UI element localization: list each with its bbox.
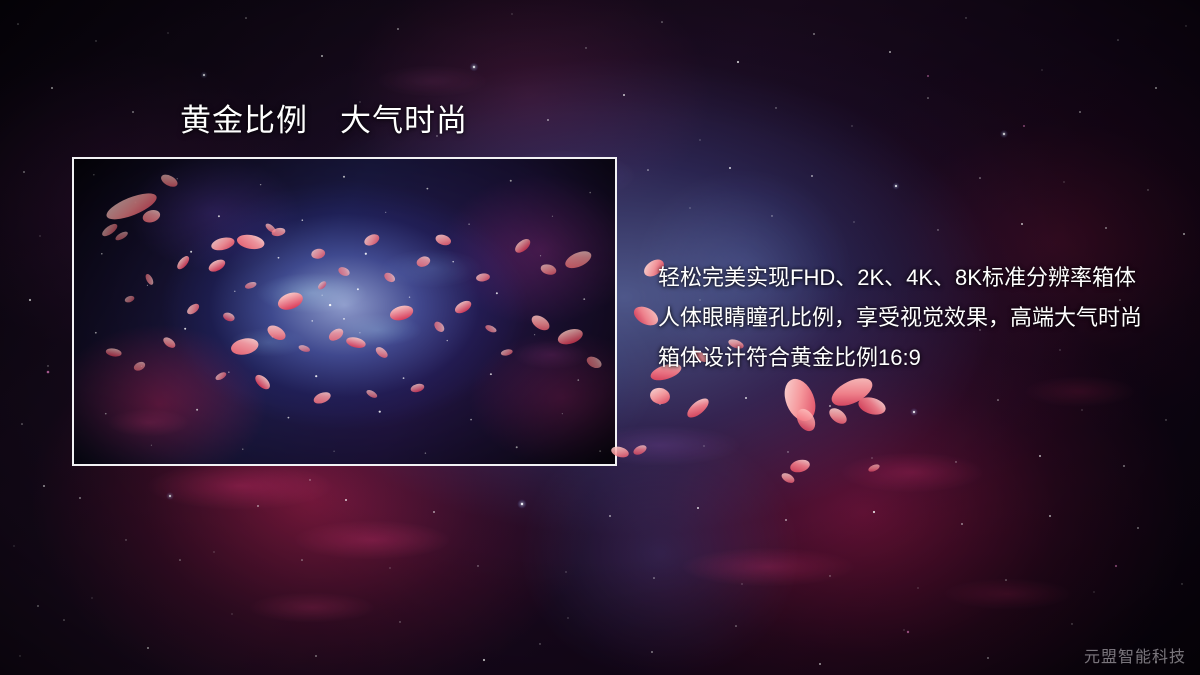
- body-line-3: 箱体设计符合黄金比例16:9: [658, 338, 1138, 378]
- panel-image-content: [74, 159, 615, 464]
- page-title: 黄金比例 大气时尚: [180, 102, 468, 139]
- body-line-1: 轻松完美实现FHD、2K、4K、8K标准分辨率箱体: [658, 258, 1138, 298]
- body-text-block: 轻松完美实现FHD、2K、4K、8K标准分辨率箱体 人体眼睛瞳孔比例，享受视觉效…: [658, 258, 1138, 378]
- slide-canvas: 黄金比例 大气时尚 轻松完美实现FHD、2K、4K、8K标准分辨率箱体 人体眼睛…: [0, 0, 1200, 675]
- watermark: 元盟智能科技: [1084, 643, 1186, 667]
- body-line-2: 人体眼睛瞳孔比例，享受视觉效果，高端大气时尚: [658, 298, 1138, 338]
- panel-vignette: [74, 159, 615, 464]
- framed-nebula-image: [72, 157, 617, 466]
